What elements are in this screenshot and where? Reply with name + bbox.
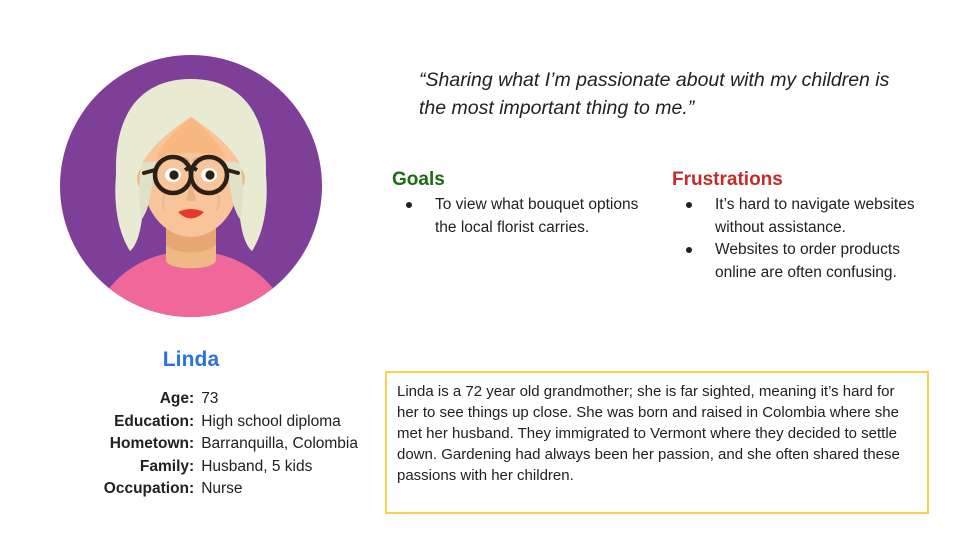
table-row: Age: 73: [104, 388, 358, 411]
attribute-label-hometown: Hometown:: [104, 433, 201, 456]
page-title: Linda: [0, 348, 382, 372]
list-item: To view what bouquet options the local f…: [392, 194, 660, 239]
frustration-text: Websites to order products online are of…: [715, 241, 900, 281]
table-row: Hometown: Barranquilla, Colombia: [104, 433, 358, 456]
attribute-value-hometown: Barranquilla, Colombia: [201, 433, 358, 456]
bullet-icon: [686, 202, 692, 208]
avatar-illustration: [60, 55, 322, 317]
table-row: Family: Husband, 5 kids: [104, 456, 358, 479]
iris-right: [205, 170, 214, 179]
bio-box: Linda is a 72 year old grandmother; she …: [385, 371, 929, 514]
list-item: It’s hard to navigate websites without a…: [672, 194, 934, 239]
persona-quote: “Sharing what I’m passionate about with …: [419, 66, 904, 122]
bullet-icon: [406, 202, 412, 208]
attributes-table: Age: 73 Education: High school diploma H…: [0, 388, 382, 501]
attribute-value-occupation: Nurse: [201, 478, 358, 501]
goals-section: Goals To view what bouquet options the l…: [392, 168, 660, 239]
bio-text: Linda is a 72 year old grandmother; she …: [397, 381, 918, 486]
avatar: [60, 55, 322, 317]
frustrations-list: It’s hard to navigate websites without a…: [672, 194, 934, 284]
frustrations-heading: Frustrations: [672, 168, 934, 192]
list-item: Websites to order products online are of…: [672, 239, 934, 284]
attribute-label-family: Family:: [104, 456, 201, 479]
table-row: Education: High school diploma: [104, 411, 358, 434]
goals-list: To view what bouquet options the local f…: [392, 194, 660, 239]
attribute-value-education: High school diploma: [201, 411, 358, 434]
frustration-text: It’s hard to navigate websites without a…: [715, 196, 915, 236]
attribute-value-age: 73: [201, 388, 358, 411]
iris-left: [169, 170, 178, 179]
goals-heading: Goals: [392, 168, 660, 192]
attribute-label-education: Education:: [104, 411, 201, 434]
table-row: Occupation: Nurse: [104, 478, 358, 501]
goal-text: To view what bouquet options the local f…: [435, 196, 638, 236]
attribute-value-family: Husband, 5 kids: [201, 456, 358, 479]
attribute-label-age: Age:: [104, 388, 201, 411]
bullet-icon: [686, 247, 692, 253]
frustrations-section: Frustrations It’s hard to navigate websi…: [672, 168, 934, 284]
attribute-label-occupation: Occupation:: [104, 478, 201, 501]
